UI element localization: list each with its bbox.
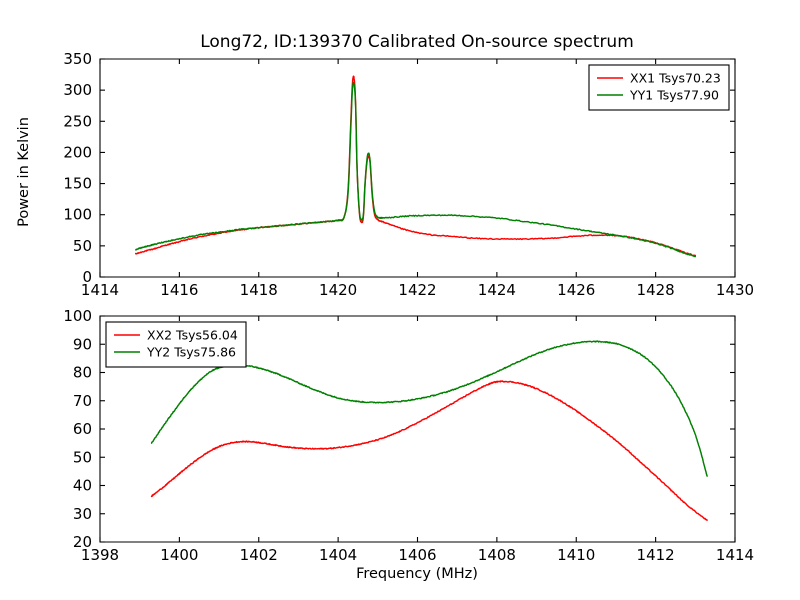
y-tick-label: 70 <box>73 392 92 410</box>
y-tick-label: 300 <box>63 81 92 99</box>
top-panel-ylabel: Power in Kelvin <box>16 117 32 227</box>
x-tick-label: 1412 <box>637 546 675 564</box>
y-tick-label: 50 <box>73 448 92 466</box>
x-tick-label: 1402 <box>240 546 278 564</box>
bottom-panel-series <box>152 341 708 520</box>
x-tick-label: 1422 <box>398 281 436 299</box>
page-title: Long72, ID:139370 Calibrated On-source s… <box>200 32 634 52</box>
legend-label: YY1 Tsys77.90 <box>629 88 719 103</box>
y-tick-label: 0 <box>82 268 92 286</box>
y-tick-label: 350 <box>63 50 92 68</box>
x-tick-label: 1420 <box>319 281 357 299</box>
x-tick-label: 1426 <box>557 281 595 299</box>
y-tick-label: 80 <box>73 364 92 382</box>
y-tick-label: 90 <box>73 335 92 353</box>
x-tick-label: 1424 <box>478 281 516 299</box>
top-panel: Long72, ID:139370 Calibrated On-source s… <box>16 32 754 299</box>
x-tick-label: 1400 <box>160 546 198 564</box>
legend-label: XX1 Tsys70.23 <box>630 71 721 86</box>
y-tick-label: 100 <box>63 307 92 325</box>
x-tick-label: 1404 <box>319 546 357 564</box>
x-tick-label: 1410 <box>557 546 595 564</box>
series-line-xx <box>152 381 708 520</box>
x-tick-label: 1428 <box>637 281 675 299</box>
y-tick-label: 100 <box>63 206 92 224</box>
bottom-panel: 1398140014021404140614081410141214142030… <box>63 307 754 582</box>
bottom-panel-legend: XX2 Tsys56.04YY2 Tsys75.86 <box>106 322 246 367</box>
y-tick-label: 250 <box>63 112 92 130</box>
legend-label: YY2 Tsys75.86 <box>146 345 236 360</box>
x-tick-label: 1418 <box>240 281 278 299</box>
top-panel-legend: XX1 Tsys70.23YY1 Tsys77.90 <box>589 65 729 110</box>
matplotlib-figure: Long72, ID:139370 Calibrated On-source s… <box>0 0 800 600</box>
y-tick-label: 20 <box>73 533 92 551</box>
x-tick-label: 1408 <box>478 546 516 564</box>
y-tick-label: 200 <box>63 143 92 161</box>
y-tick-label: 150 <box>63 175 92 193</box>
x-tick-label: 1430 <box>716 281 754 299</box>
y-tick-label: 60 <box>73 420 92 438</box>
y-tick-label: 50 <box>73 237 92 255</box>
y-tick-label: 30 <box>73 505 92 523</box>
y-tick-label: 40 <box>73 477 92 495</box>
legend-label: XX2 Tsys56.04 <box>147 328 238 343</box>
bottom-panel-xlabel: Frequency (MHz) <box>356 566 478 582</box>
x-tick-label: 1416 <box>160 281 198 299</box>
figure-canvas: Long72, ID:139370 Calibrated On-source s… <box>0 0 800 600</box>
x-tick-label: 1406 <box>398 546 436 564</box>
x-tick-label: 1414 <box>716 546 754 564</box>
